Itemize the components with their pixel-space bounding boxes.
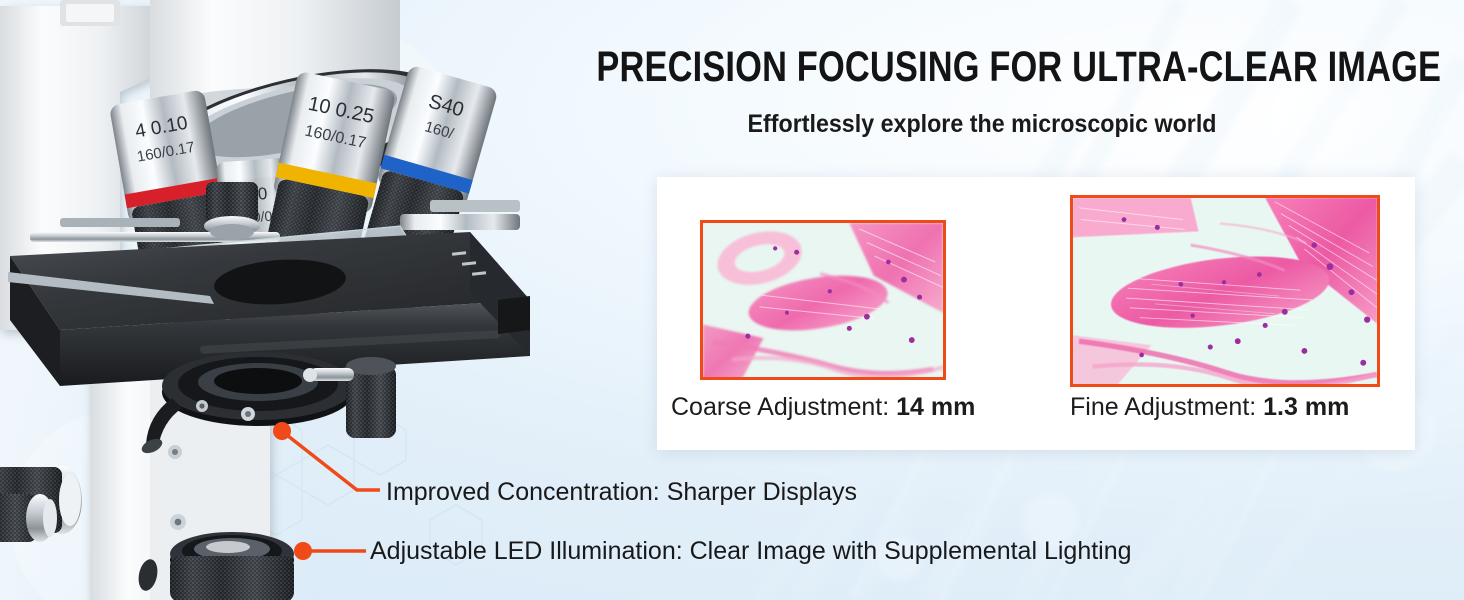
promo-banner: 4 0.10 160/0.17 100 160/0 10 0.25 160/0.… bbox=[0, 0, 1464, 600]
comparison-card: Coarse Adjustment: 14 mm Fine Adjustment… bbox=[657, 177, 1415, 450]
caption-fine-value: 1.3 mm bbox=[1263, 393, 1349, 421]
microscope-product-photo: 4 0.10 160/0.17 100 160/0 10 0.25 160/0.… bbox=[0, 0, 560, 600]
callout-label-led: Adjustable LED Illumination: Clear Image… bbox=[370, 537, 1132, 566]
caption-coarse-value: 14 mm bbox=[896, 393, 975, 421]
specimen-image-coarse bbox=[700, 220, 946, 380]
page-subtitle: Effortlessly explore the microscopic wor… bbox=[534, 110, 1431, 139]
histology-tissue-coarse bbox=[703, 223, 943, 379]
caption-coarse-adjustment: Coarse Adjustment: 14 mm bbox=[671, 393, 975, 422]
caption-fine-prefix: Fine Adjustment: bbox=[1070, 393, 1263, 421]
histology-tissue-fine bbox=[1073, 198, 1377, 386]
page-title: PRECISION FOCUSING FOR ULTRA-CLEAR IMAGE bbox=[596, 46, 1367, 89]
caption-fine-adjustment: Fine Adjustment: 1.3 mm bbox=[1070, 393, 1349, 422]
callout-label-concentration: Improved Concentration: Sharper Displays bbox=[386, 478, 857, 507]
caption-coarse-prefix: Coarse Adjustment: bbox=[671, 393, 896, 421]
specimen-image-fine bbox=[1070, 195, 1380, 387]
